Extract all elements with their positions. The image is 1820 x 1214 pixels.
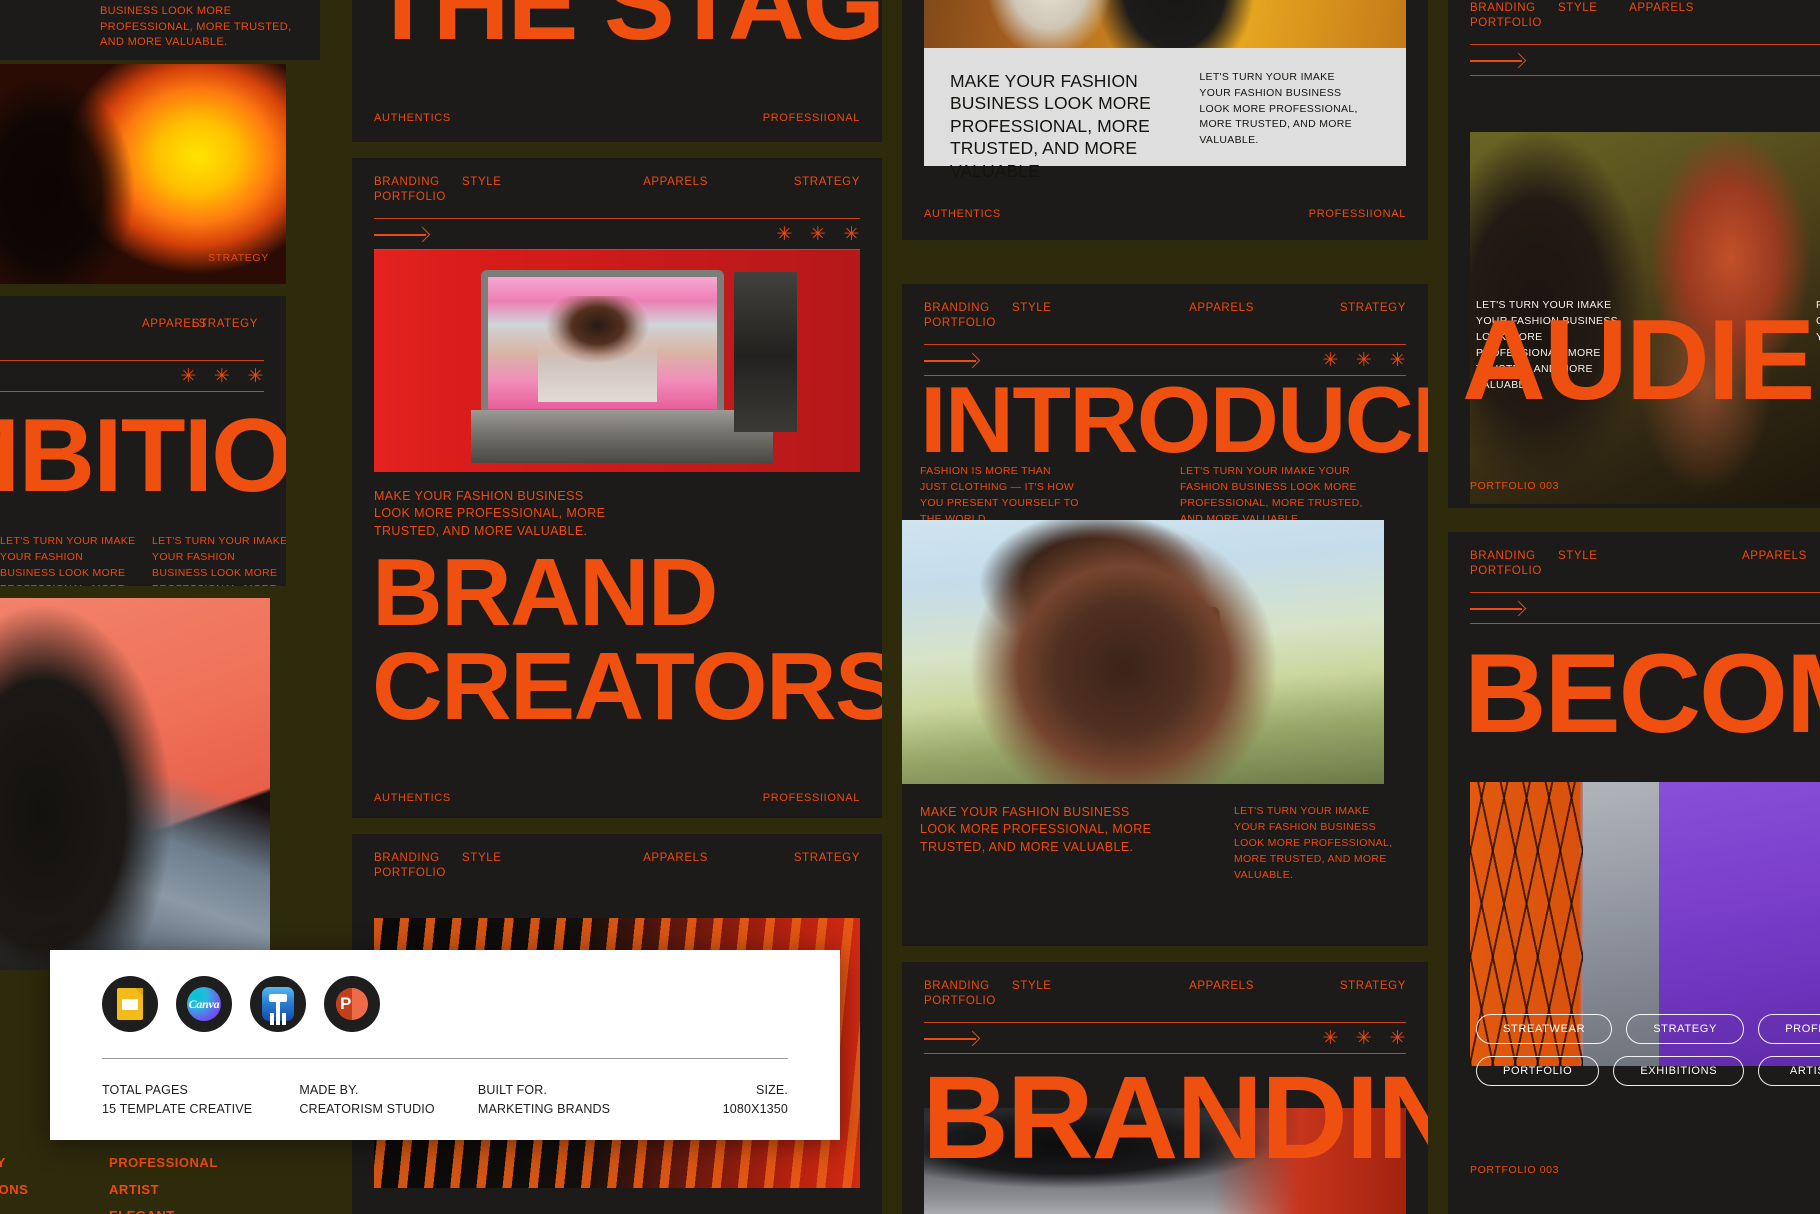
asterisk-icon: ✳	[810, 225, 827, 244]
footer-brand-creators: AUTHENTICS PROFESSIIONAL	[374, 792, 860, 804]
tag-pill-strategy[interactable]: STRATEGY	[1626, 1014, 1744, 1044]
nav-bottom-center: BRANDING PORTFOLIO STYLE APPARELS STRATE…	[352, 834, 882, 886]
footer-quote: AUTHENTICS PROFESSIIONAL	[924, 208, 1406, 220]
rule-middle: ✳✳✳	[0, 361, 264, 391]
info-key: SIZE.	[666, 1081, 788, 1100]
copy-line-2: LOOK MORE PROFESSIONAL, MORE	[374, 505, 674, 522]
tv-body	[471, 410, 772, 463]
introduce-footer-copy-left: MAKE YOUR FASHION BUSINESS LOOK MORE PRO…	[920, 804, 1220, 856]
info-col-total-pages: TOTAL PAGES 15 TEMPLATE CREATIVE	[102, 1081, 299, 1120]
rule-middle	[1470, 593, 1820, 623]
nav-item-portfolio[interactable]: PORTFOLIO	[924, 995, 996, 1007]
card-ambition: APPARELS STRATEGY ✳✳✳ MBITION LET'S TURN…	[0, 296, 286, 586]
asterisk-icon-group: ✳✳✳	[180, 367, 264, 386]
template-info-bar: Canva TOTAL PAGES 15 TEMPLATE CREATIVE M…	[50, 950, 840, 1140]
nav-item-style[interactable]: STYLE	[1012, 302, 1052, 314]
asterisk-icon: ✳	[843, 225, 860, 244]
copy-line-3: TRUSTED, AND MORE VALUABLE.	[920, 839, 1220, 856]
word-col1-item: TIONS	[0, 1177, 28, 1204]
tag-pill-professional[interactable]: PROFESSIONAL	[1758, 1014, 1820, 1044]
tag-pill-row-1: STREATWEAR STRATEGY PROFESSIONAL	[1476, 1014, 1820, 1044]
copy-line-3: TRUSTED, AND MORE VALUABLE.	[374, 523, 674, 540]
asterisk-icon: ✳	[180, 367, 197, 386]
asterisk-icon: ✳	[1322, 1029, 1339, 1048]
photo-retro-tv	[374, 250, 860, 472]
arrow-right-icon[interactable]	[1470, 602, 1524, 614]
tag-pill-portfolio[interactable]: PORTFOLIO	[1476, 1056, 1599, 1086]
nav-item-style[interactable]: STYLE	[1012, 980, 1052, 992]
rule-bottom	[1470, 75, 1820, 76]
nav-rule-block: ✳✳✳	[374, 218, 860, 250]
info-value: 15 TEMPLATE CREATIVE	[102, 1100, 299, 1119]
card-the-stage: THE STAGE AUTHENTICS PROFESSIIONAL	[352, 0, 882, 142]
nav-becoming: BRANDING PORTFOLIO STYLE APPARELS	[1448, 532, 1820, 624]
nav-introduce: BRANDING PORTFOLIO STYLE APPARELS STRATE…	[902, 284, 1428, 376]
powerpoint-icon[interactable]	[324, 976, 380, 1032]
ambition-copy-left: LET'S TURN YOUR IMAKE YOUR FASHION BUSIN…	[0, 534, 136, 586]
arrow-right-icon[interactable]	[374, 228, 428, 240]
nav-item-branding[interactable]: BRANDING	[924, 980, 990, 992]
headline-the-stage: THE STAGE	[370, 0, 882, 49]
app-icon-row: Canva	[50, 950, 840, 1032]
info-meta-row: TOTAL PAGES 15 TEMPLATE CREATIVE MADE BY…	[50, 1059, 840, 1120]
headline-brand: BRAND	[372, 552, 717, 635]
photo-coral-hoodie	[0, 598, 270, 970]
nav-branding-big: BRANDING PORTFOLIO STYLE APPARELS STRATE…	[902, 962, 1428, 1054]
rule-bottom	[0, 391, 264, 392]
nav-item-strategy[interactable]: STRATEGY	[1340, 980, 1406, 992]
poster-grid-canvas: BUSINESS LOOK MORE PROFESSIONAL, MORE TR…	[0, 0, 1820, 1214]
nav-item-style[interactable]: STYLE	[462, 852, 502, 864]
card-becoming: BRANDING PORTFOLIO STYLE APPARELS BECOMI…	[1448, 532, 1820, 1214]
footer-right-label: PROFESSIIONAL	[763, 792, 860, 804]
info-key: MADE BY.	[299, 1081, 478, 1100]
headline-branding-big: BRANDING	[922, 1068, 1428, 1169]
nav-item-apparels[interactable]: APPARELS	[1189, 302, 1254, 314]
nav-item-style[interactable]: STYLE	[1558, 2, 1598, 14]
nav-item-style[interactable]: STYLE	[1558, 550, 1598, 562]
tag-pill-group: STREATWEAR STRATEGY PROFESSIONAL PORTFOL…	[1476, 1014, 1820, 1098]
nav-rule-block	[1470, 44, 1820, 76]
info-col-size: SIZE. 1080X1350	[666, 1081, 788, 1120]
asterisk-icon: ✳	[214, 367, 231, 386]
nav-rule-block: ✳✳✳	[0, 360, 264, 392]
nav-item-apparels[interactable]: APPARELS	[643, 852, 708, 864]
card-introduce: BRANDING PORTFOLIO STYLE APPARELS STRATE…	[902, 284, 1428, 946]
nav-audience: BRANDING PORTFOLIO STYLE APPARELS	[1448, 0, 1820, 76]
word-col2-item: ELEGANT	[109, 1203, 218, 1214]
copy-line-1: MAKE YOUR FASHION BUSINESS	[920, 804, 1220, 821]
footer-right-label: PROFESSIIONAL	[763, 112, 860, 124]
footer-left-label: AUTHENTICS	[924, 208, 1001, 220]
nav-rule-block: ✳✳✳	[924, 1022, 1406, 1054]
quote-box: MAKE YOUR FASHION BUSINESS LOOK MORE PRO…	[924, 48, 1406, 166]
tv-screen	[481, 270, 724, 417]
rule-bottom	[1470, 623, 1820, 624]
nav-item-portfolio[interactable]: PORTFOLIO	[374, 191, 446, 203]
footer-audience: PORTFOLIO 003	[1470, 480, 1559, 492]
sunglasses-shape	[1027, 607, 1221, 647]
word-col1-item: GY	[0, 1150, 28, 1177]
info-key: TOTAL PAGES	[102, 1081, 299, 1100]
info-value: MARKETING BRANDS	[478, 1100, 666, 1119]
copy-line-2: LOOK MORE PROFESSIONAL, MORE	[920, 821, 1220, 838]
asterisk-icon: ✳	[1389, 1029, 1406, 1048]
footer-right-label: PROFESSIIONAL	[1309, 208, 1406, 220]
headline-ambition: MBITION	[0, 412, 286, 501]
nav-item-apparels[interactable]: APPARELS	[643, 176, 708, 188]
info-value: 1080X1350	[666, 1100, 788, 1119]
introduce-copy-right: LET'S TURN YOUR IMAKE YOUR FASHION BUSIN…	[1180, 464, 1376, 528]
copy-line-1: MAKE YOUR FASHION BUSINESS	[374, 488, 674, 505]
quote-side-text: LET'S TURN YOUR IMAKE YOUR FASHION BUSIN…	[1199, 70, 1359, 144]
footer-left-label: AUTHENTICS	[374, 792, 451, 804]
arrow-right-icon[interactable]	[1470, 54, 1524, 66]
nav-item-strategy[interactable]: STRATEGY	[1340, 302, 1406, 314]
nav-item-strategy[interactable]: STRATEGY	[192, 318, 258, 330]
info-key: BUILT FOR.	[478, 1081, 666, 1100]
asterisk-icon-group: ✳✳✳	[1322, 1029, 1406, 1048]
tag-pill-streatwear[interactable]: STREATWEAR	[1476, 1014, 1612, 1044]
word-column-left: GY TIONS	[0, 1150, 28, 1203]
headline-audience: AUDIENC	[1462, 312, 1820, 410]
nav-item-portfolio[interactable]: PORTFOLIO	[1470, 565, 1542, 577]
headline-creators: CREATORS	[372, 646, 882, 729]
quote-main-text: MAKE YOUR FASHION BUSINESS LOOK MORE PRO…	[950, 70, 1199, 144]
asterisk-icon: ✳	[1356, 1029, 1373, 1048]
photo-gradient-portrait	[0, 64, 286, 284]
ambition-copy-right: LET'S TURN YOUR IMAKE YOUR FASHION BUSIN…	[152, 534, 286, 586]
tag-pill-exhibitions[interactable]: EXHIBITIONS	[1613, 1056, 1744, 1086]
asterisk-icon: ✳	[776, 225, 793, 244]
photo-warm-duo	[924, 0, 1406, 48]
tag-pill-row-2: PORTFOLIO EXHIBITIONS ARTIST	[1476, 1056, 1820, 1086]
card-audience: BRANDING PORTFOLIO STYLE APPARELS LET'S …	[1448, 0, 1820, 508]
info-col-built-for: BUILT FOR. MARKETING BRANDS	[478, 1081, 666, 1120]
nav-item-apparels[interactable]: APPARELS	[1189, 980, 1254, 992]
word-column-right: PROFESSIONAL ARTIST ELEGANT	[109, 1150, 218, 1214]
nav-item-portfolio[interactable]: PORTFOLIO	[924, 317, 996, 329]
nav-item-branding[interactable]: BRANDING	[1470, 2, 1536, 14]
nav-item-strategy[interactable]: STRATEGY	[794, 852, 860, 864]
nav-item-portfolio[interactable]: PORTFOLIO	[374, 867, 446, 879]
nav-rule-block	[1470, 592, 1820, 624]
nav-item-portfolio[interactable]: PORTFOLIO	[1470, 17, 1542, 29]
info-col-made-by: MADE BY. CREATORISM STUDIO	[299, 1081, 478, 1120]
nav-item-branding[interactable]: BRANDING	[924, 302, 990, 314]
tv-control-panel	[734, 272, 797, 432]
photo-gradient-caption: STRATEGY	[208, 252, 269, 264]
arrow-right-icon[interactable]	[924, 354, 978, 366]
card-branding-big: BRANDING PORTFOLIO STYLE APPARELS STRATE…	[902, 962, 1428, 1214]
word-col2-item: PROFESSIONAL	[109, 1150, 218, 1177]
keynote-icon[interactable]	[250, 976, 306, 1032]
photo-sunglasses-portrait	[902, 520, 1384, 784]
canva-wordmark: Canva	[187, 987, 221, 1021]
nav-item-apparels[interactable]: APPARELS	[1629, 2, 1694, 14]
footer-the-stage: AUTHENTICS PROFESSIIONAL	[374, 112, 860, 124]
asterisk-icon: ✳	[247, 367, 264, 386]
footer-becoming: PORTFOLIO 003	[1470, 1164, 1559, 1176]
brand-creators-copy: MAKE YOUR FASHION BUSINESS LOOK MORE PRO…	[374, 488, 674, 540]
canva-icon[interactable]: Canva	[176, 976, 232, 1032]
nav-ambition: APPARELS STRATEGY ✳✳✳	[0, 296, 286, 392]
rule-middle: ✳✳✳	[374, 219, 860, 249]
arrow-right-icon[interactable]	[924, 1032, 978, 1044]
headline-becoming: BECOMIN	[1464, 646, 1820, 742]
nav-item-style[interactable]: STYLE	[462, 176, 502, 188]
introduce-footer-copy-right: LET'S TURN YOUR IMAKE YOUR FASHION BUSIN…	[1234, 804, 1398, 884]
tag-pill-artist[interactable]: ARTIST	[1758, 1056, 1820, 1086]
nav-item-branding[interactable]: BRANDING	[374, 176, 440, 188]
nav-item-branding[interactable]: BRANDING	[374, 852, 440, 864]
google-slides-icon[interactable]	[102, 976, 158, 1032]
card-quote: MAKE YOUR FASHION BUSINESS LOOK MORE PRO…	[902, 0, 1428, 240]
card-cut-top-left: BUSINESS LOOK MORE PROFESSIONAL, MORE TR…	[0, 0, 320, 60]
info-value: CREATORISM STUDIO	[299, 1100, 478, 1119]
card-brand-creators: BRANDING PORTFOLIO STYLE APPARELS STRATE…	[352, 158, 882, 818]
asterisk-icon-group: ✳✳✳	[776, 225, 860, 244]
nav-brand-creators: BRANDING PORTFOLIO STYLE APPARELS STRATE…	[352, 158, 882, 250]
introduce-copy-left: FASHION IS MORE THAN JUST CLOTHING — IT'…	[920, 464, 1080, 528]
headline-introduce: INTRODUCE	[920, 380, 1428, 461]
nav-item-strategy[interactable]: STRATEGY	[794, 176, 860, 188]
rule-middle	[1470, 45, 1820, 75]
footer-left-label: AUTHENTICS	[374, 112, 451, 124]
cut-top-copy: BUSINESS LOOK MORE PROFESSIONAL, MORE TR…	[100, 4, 310, 51]
nav-item-branding[interactable]: BRANDING	[1470, 550, 1536, 562]
word-col2-item: ARTIST	[109, 1177, 218, 1204]
rule-middle: ✳✳✳	[924, 1023, 1406, 1053]
